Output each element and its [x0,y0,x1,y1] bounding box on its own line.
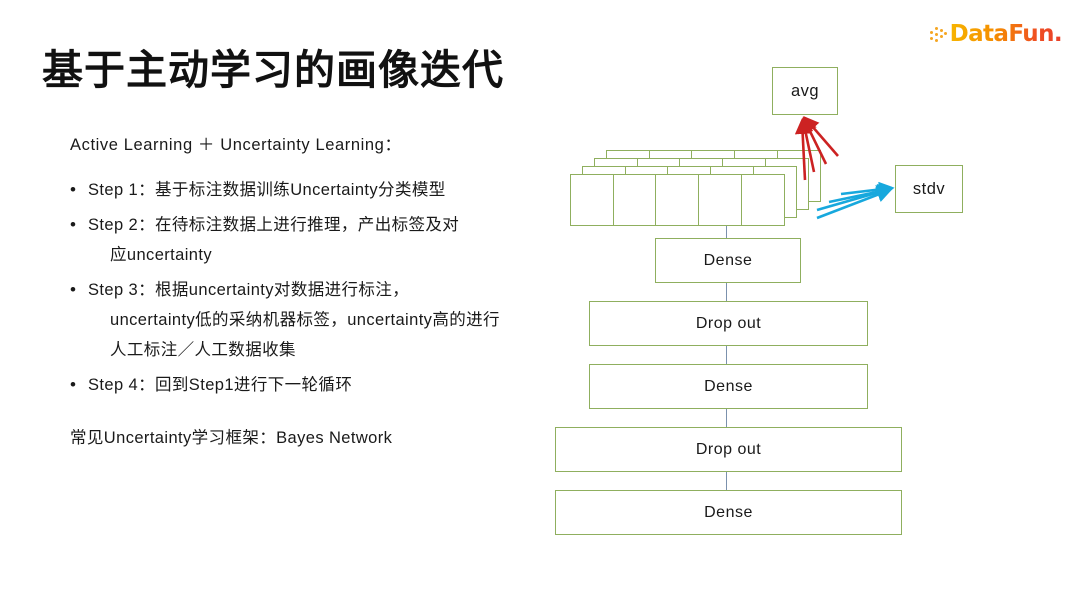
content-body: Active Learning ＋ Uncertainty Learning： … [70,133,570,448]
bullet-marker: • [70,210,88,240]
avg-arrows [802,118,838,180]
list-item: • Step 1：基于标注数据训练Uncertainty分类模型 [70,175,570,205]
datafun-dots-icon [930,26,947,43]
bullet-text-cont: uncertainty低的采纳机器标签，uncertainty高的进行 [88,305,570,335]
bayes-network-diagram: avg stdv [540,55,1060,555]
node-dense-2[interactable]: Dense [589,364,868,409]
list-item: • Step 4：回到Step1进行下一轮循环 [70,370,570,400]
datafun-logo: DataFun. [930,21,1062,47]
lead-line: Active Learning ＋ Uncertainty Learning： [70,133,570,158]
node-dense-1[interactable]: Dense [655,238,801,283]
bullet-text-cont: 人工标注／人工数据收集 [88,335,570,365]
node-dropout-1[interactable]: Drop out [589,301,868,346]
bullet-marker: • [70,370,88,400]
list-item: • Step 2：在待标注数据上进行推理，产出标签及对 应uncertainty [70,210,570,270]
bullet-marker: • [70,175,88,205]
node-dense-3[interactable]: Dense [555,490,902,535]
bullet-text: Step 1：基于标注数据训练Uncertainty分类模型 [88,175,570,205]
connector-dense1-dropout1 [726,283,727,301]
logo-wordmark: DataFun. [950,21,1062,47]
bullet-text: Step 4：回到Step1进行下一轮循环 [88,370,570,400]
list-item: • Step 3：根据uncertainty对数据进行标注， uncertain… [70,275,570,365]
node-dropout-2[interactable]: Drop out [555,427,902,472]
slide-canvas: DataFun. 基于主动学习的画像迭代 Active Learning ＋ U… [0,0,1080,608]
stdv-arrows [817,188,892,218]
bullet-text: Step 3：根据uncertainty对数据进行标注， [88,275,570,305]
bullet-marker: • [70,275,88,305]
footer-note: 常见Uncertainty学习框架：Bayes Network [70,424,570,448]
connector-dense2-dropout2 [726,409,727,427]
connector-dropout1-dense2 [726,346,727,364]
page-title: 基于主动学习的画像迭代 [42,36,504,96]
bullet-text-cont: 应uncertainty [88,240,570,270]
bullet-text: Step 2：在待标注数据上进行推理，产出标签及对 [88,210,570,240]
connector-dropout2-dense3 [726,472,727,490]
